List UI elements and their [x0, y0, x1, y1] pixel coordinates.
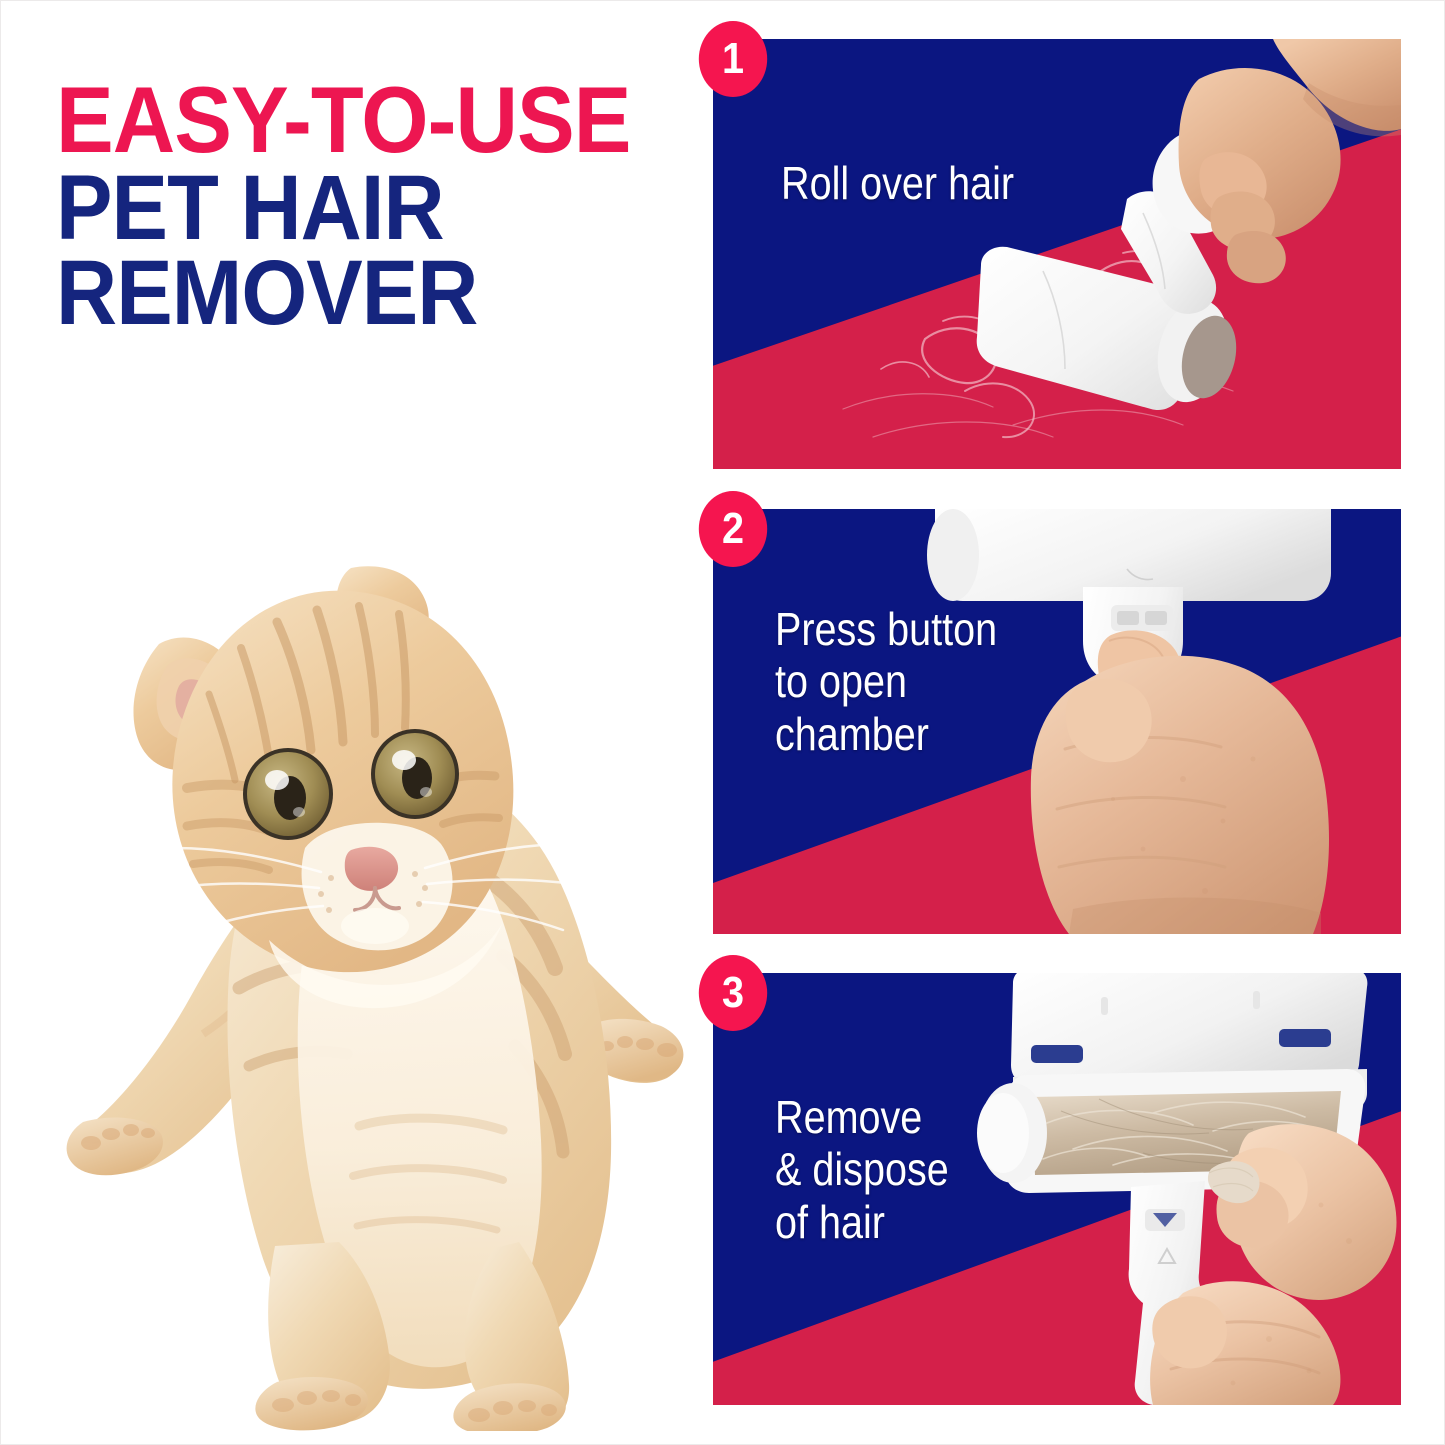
- step-1-caption: Roll over hair: [781, 157, 1014, 209]
- headline-line-3: REMOVER: [56, 253, 626, 334]
- step-2-caption: Press button to open chamber: [775, 603, 997, 760]
- step-panel-3: 3 Remove & dispose of hair: [713, 973, 1401, 1405]
- headline-line-1: EASY-TO-USE: [56, 79, 626, 162]
- step-2-badge: 2: [699, 491, 767, 567]
- step-panel-2: 2 Press button to open chamber: [713, 509, 1401, 934]
- step-1-photo: [713, 39, 1401, 469]
- step-3-badge: 3: [699, 955, 767, 1031]
- headline-line-2: PET HAIR: [56, 168, 626, 249]
- page-title: EASY-TO-USE PET HAIR REMOVER: [56, 79, 676, 334]
- step-3-caption: Remove & dispose of hair: [775, 1091, 949, 1248]
- step-panel-1: 1 Roll over hair: [713, 39, 1401, 469]
- infographic-canvas: EASY-TO-USE PET HAIR REMOVER: [0, 0, 1445, 1445]
- step-1-badge: 1: [699, 21, 767, 97]
- hero-cat-image: [63, 526, 688, 1431]
- cat-illustration: [63, 526, 688, 1431]
- step-1-background: [713, 39, 1401, 469]
